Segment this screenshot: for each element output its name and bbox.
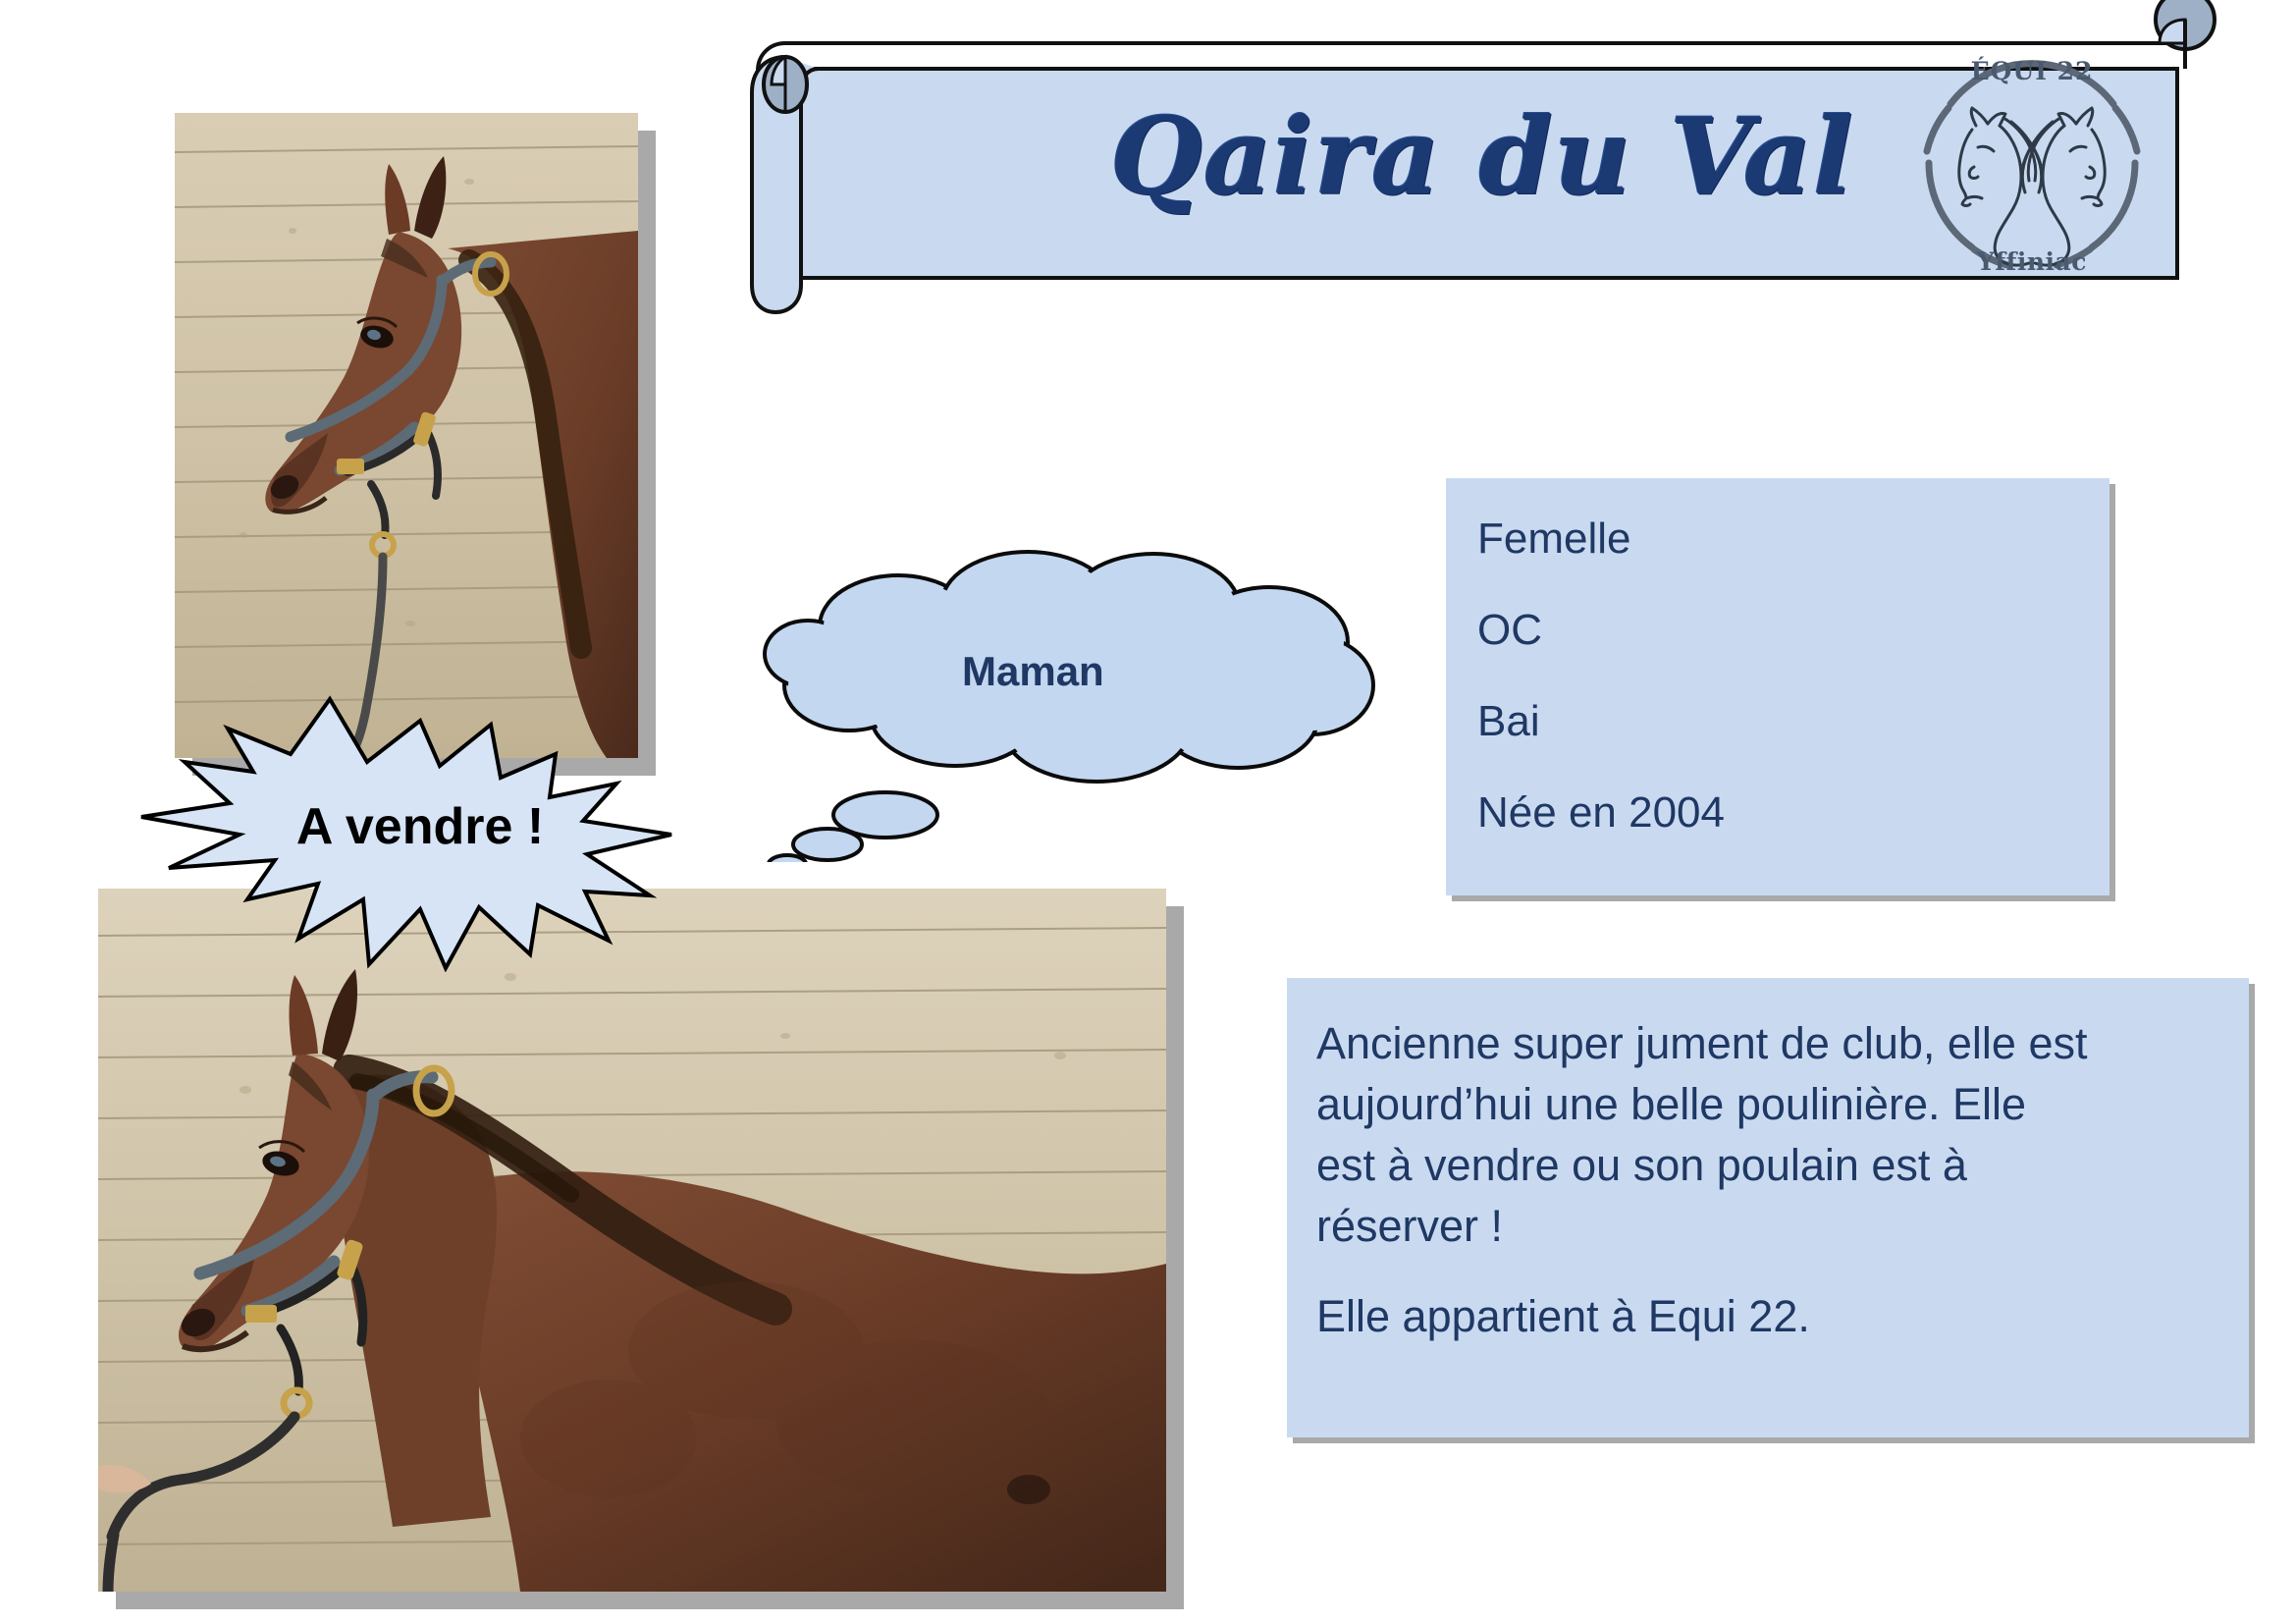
attribute-sex: Femelle (1477, 517, 2109, 561)
attribute-coat: Bai (1477, 700, 2109, 743)
description-line-1: Ancienne super jument de club, elle est (1316, 1013, 2249, 1074)
thought-bubble-label: Maman (962, 648, 1104, 695)
description-owner-line: Elle appartient à Equi 22. (1316, 1286, 2249, 1347)
horse-head-icon-left (1959, 108, 2042, 265)
thought-bubble: Maman (751, 538, 1399, 862)
description-line-3: est à vendre ou son poulain est à (1316, 1135, 2249, 1196)
page-title: Qaira du Val (982, 104, 1983, 210)
description-line-2: aujourd’hui une belle poulinière. Elle (1316, 1074, 2249, 1135)
horse-head-icon-right (2022, 108, 2105, 265)
poster-canvas: Qaira du Val (0, 0, 2296, 1624)
for-sale-label: A vendre ! (126, 797, 715, 856)
description-spacer (1316, 1257, 2249, 1286)
horse-description-box: Ancienne super jument de club, elle est … (1287, 978, 2249, 1437)
logo-top-text: ÉQUI 22 (1909, 57, 2155, 85)
attribute-birth-year: Née en 2004 (1477, 791, 2109, 835)
description-line-4: réserver ! (1316, 1196, 2249, 1257)
logo-bottom-text: Yffiniac (1909, 247, 2155, 276)
title-banner: Qaira du Val (746, 18, 2228, 312)
photo-horse-body (98, 889, 1166, 1592)
for-sale-starburst: A vendre ! (126, 687, 715, 972)
photo-horse-head (175, 113, 638, 758)
equi22-logo: ÉQUI 22 Yffiniac (1909, 53, 2155, 297)
attribute-breed: OC (1477, 609, 2109, 652)
horse-attributes-box: Femelle OC Bai Née en 2004 (1446, 478, 2109, 895)
